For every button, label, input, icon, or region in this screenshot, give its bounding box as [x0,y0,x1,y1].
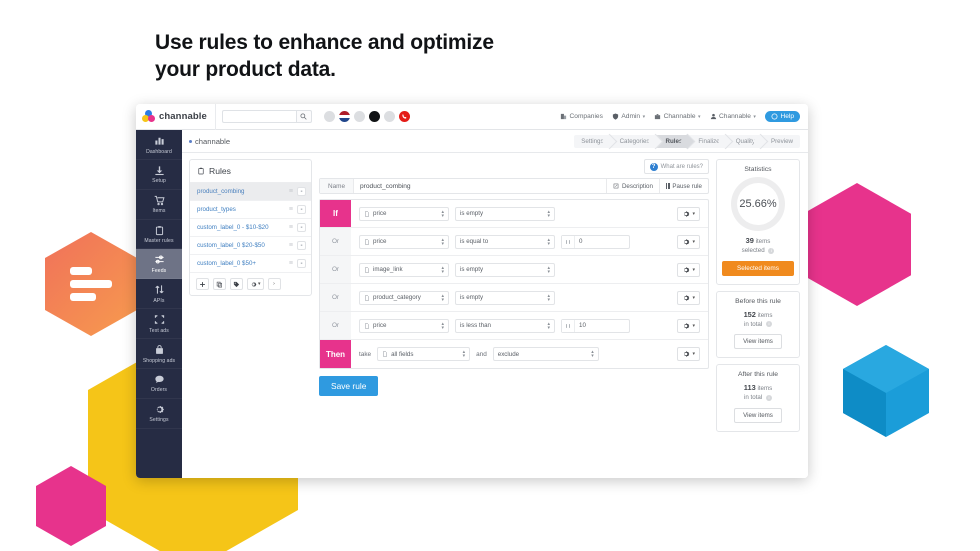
drag-handle-icon[interactable]: ≡ [289,242,293,249]
briefcase-icon [654,113,661,120]
expand-icon [138,314,180,326]
save-rule-button[interactable]: Save rule [319,376,378,396]
row-settings-button[interactable]: ▾ [677,235,700,249]
selected-count: 39 [746,236,754,245]
file-icon [364,267,370,273]
after-unit: items [757,385,772,392]
question-icon: ? [650,163,658,171]
menu-item-companies[interactable]: Companies [560,113,603,120]
sidebar-item-settings[interactable]: Settings [136,399,182,429]
condition-keyword: Or [320,228,351,255]
duplicate-rule-button[interactable] [213,278,226,290]
condition-fields: price ▴▾ is less than ▴▾ [351,312,708,339]
description-icon [613,183,619,189]
rule-editor: ? What are rules? Name product_combing D… [319,159,709,478]
sidebar-item-shopping-ads[interactable]: Shopping ads [136,339,182,369]
search-group [222,110,312,123]
operator-value: is empty [460,294,483,301]
sidebar-item-label: APIs [138,298,180,304]
brand-logo[interactable]: channable [142,110,215,123]
rule-list-item[interactable]: custom_label_0 - $10-$20 ≡ ▪ [190,219,311,237]
cart-icon [138,195,180,207]
condition-field-select[interactable]: price ▴▾ [359,207,449,221]
spinner-icon: ▴▾ [547,294,550,302]
rule-name-label: Name [320,179,354,193]
statistics-card: Statistics 25.66% 39 items selected i Se… [716,159,800,285]
condition-keyword: Or [320,284,351,311]
sidebar-item-apis[interactable]: APIs [136,279,182,309]
hexagon-glyph [70,267,112,301]
spinner-icon: ▴▾ [547,210,550,218]
sidebar-item-label: Feeds [138,268,180,274]
and-label: and [476,351,487,358]
brand-name: channable [159,111,207,122]
file-icon [364,323,370,329]
condition-fields: product_category ▴▾ is empty ▴▾ [351,284,708,311]
clipboard-icon [197,167,205,175]
topbar-menu: Companies Admin ▾ Channable ▾ Channable … [560,111,802,122]
chevron-down-icon: ▾ [692,295,695,301]
row-settings-button[interactable]: ▾ [677,263,700,277]
gear-icon [682,322,690,330]
menu-item-admin[interactable]: Admin ▾ [612,113,645,120]
condition-value-input[interactable]: 10 [575,320,629,332]
chevron-down-icon: ▾ [692,351,695,357]
sidebar-item-label: Text ads [138,328,180,334]
info-icon[interactable]: i [768,248,774,254]
pause-rule-button[interactable]: Pause rule [659,179,708,193]
condition-field-select[interactable]: product_category ▴▾ [359,291,449,305]
operator-value: is empty [460,210,483,217]
rules-toolbar: ▾ › [190,273,311,295]
rule-conditions: If price ▴▾ is empty ▴▾ [319,199,709,369]
headline-line-2: your product data. [155,58,336,81]
phone-status-icon [399,111,410,122]
condition-operator-select[interactable]: is empty ▴▾ [455,207,555,221]
rules-settings-button[interactable]: ▾ [247,278,264,290]
info-icon[interactable]: i [766,395,772,401]
chevron-down-icon: ▾ [692,239,695,245]
then-action-select[interactable]: exclude ▴▾ [493,347,599,361]
field-value: price [373,322,386,329]
sidebar-item-dashboard[interactable]: Dashboard [136,130,182,160]
sidebar-item-label: Settings [138,417,180,423]
chevron-down-icon: ▾ [692,267,695,273]
rule-name[interactable]: product_types [197,206,285,213]
spinner-icon: ▴▾ [547,238,550,246]
before-suffix: in total [744,321,762,328]
search-icon[interactable] [296,110,312,123]
statistics-selected-line: 39 items selected i [722,235,794,256]
rule-menu-icon[interactable]: ▪ [297,187,306,196]
selected-items-button[interactable]: Selected items [722,261,794,276]
menu-label: Admin [621,113,640,120]
gear-icon [682,294,690,302]
add-rule-button[interactable] [196,278,209,290]
condition-field-select[interactable]: price ▴▾ [359,235,449,249]
menu-item-channable-company[interactable]: Channable ▾ [654,113,700,120]
sidebar-item-orders[interactable]: Orders [136,369,182,399]
help-button[interactable]: Help [765,111,800,122]
spinner-icon: ▴▾ [441,238,444,246]
after-suffix: in total [744,394,762,401]
status-dot-1 [324,111,335,122]
decorative-pink-hexagon-right [803,183,911,306]
condition-value-group: 0 [561,235,630,249]
sliders-icon [138,254,180,266]
condition-row: If price ▴▾ is empty ▴▾ [320,200,708,228]
main-panel: Rules product_combing ≡ ▪ product_types … [182,153,808,478]
copy-icon [216,281,223,288]
spinner-icon: ▴▾ [591,350,594,358]
row-action: ▾ [677,347,700,361]
description-label: Description [622,183,653,190]
user-icon [710,113,717,120]
rule-list-item[interactable]: product_types ≡ ▪ [190,201,311,219]
condition-value-input[interactable]: 0 [575,236,629,248]
drag-handle-icon[interactable]: ≡ [289,260,293,267]
breadcrumb-label: channable [195,137,230,146]
operator-value: is less than [460,322,491,329]
row-action: ▾ [677,207,700,221]
condition-keyword: Or [320,312,351,339]
before-unit: items [758,312,773,319]
pause-label: Pause rule [672,183,702,190]
condition-field-select[interactable]: price ▴▾ [359,319,449,333]
take-label: take [359,351,371,358]
decorative-orange-hexagon [45,232,137,336]
gear-icon [138,404,180,416]
chevron-down-icon: ▾ [643,114,646,120]
description-button[interactable]: Description [606,179,658,193]
arrows-updown-icon [138,284,180,296]
row-action: ▾ [677,319,700,333]
then-fields: take all fields ▴▾ and exclude ▴▾ [351,340,708,368]
condition-operator-select[interactable]: is equal to ▴▾ [455,235,555,249]
condition-field-select[interactable]: image_link ▴▾ [359,263,449,277]
condition-fields: price ▴▾ is equal to ▴▾ [351,228,708,255]
rule-list-item[interactable]: custom_label_0 $20-$50 ≡ ▪ [190,237,311,255]
bag-icon [138,344,180,356]
field-value: price [373,210,386,217]
file-icon [382,351,388,357]
after-view-items-button[interactable]: View items [734,408,782,423]
then-field-select[interactable]: all fields ▴▾ [377,347,470,361]
gear-icon [250,281,257,288]
take-value: all fields [391,351,413,358]
action-value: exclude [498,351,519,358]
lifebuoy-icon [771,113,778,120]
flag-nl-icon [339,111,350,122]
field-value: price [373,238,386,245]
operator-value: is empty [460,266,483,273]
sidebar-item-items[interactable]: Items [136,190,182,220]
before-count-line: 152 items in total i [722,309,794,330]
building-icon [560,113,567,120]
drag-handle-icon[interactable]: ≡ [289,188,293,195]
spinner-icon: ▴▾ [547,266,550,274]
condition-row: Or price ▴▾ is less than ▴▾ [320,312,708,340]
status-dot-2 [354,111,365,122]
sidebar-item-label: Dashboard [138,149,180,155]
field-value: product_category [373,294,421,301]
chevron-down-icon: ▾ [753,114,756,120]
sidebar-item-setup[interactable]: Setup [136,160,182,190]
info-icon[interactable]: i [766,321,772,327]
drag-handle-icon[interactable]: ≡ [289,224,293,231]
file-icon [364,239,370,245]
headline-line-1: Use rules to enhance and optimize [155,31,494,54]
plus-icon [199,281,206,288]
content-area: channable Settings Categories Rules Fina… [182,130,808,478]
menu-label: Channable [719,113,751,120]
rule-name-input[interactable]: product_combing [354,179,606,193]
what-are-rules-label: What are rules? [661,164,703,170]
sidebar-item-master-rules[interactable]: Master rules [136,220,182,250]
rule-menu-icon[interactable]: ▪ [297,259,306,268]
value-type-icon [562,320,575,332]
condition-value-group: 10 [561,319,630,333]
rules-panel-title: Rules [209,166,231,176]
page-title: Use rules to enhance and optimize your p… [155,30,494,84]
then-row: Then take all fields ▴▾ and e [320,340,708,368]
then-keyword: Then [320,340,351,368]
sidebar-item-label: Orders [138,387,180,393]
statistics-title: Statistics [722,166,794,173]
step-tabs: Settings Categories Rules Finalize Quali… [574,135,800,148]
spinner-icon: ▴▾ [547,322,550,330]
what-are-rules-link[interactable]: ? What are rules? [644,159,709,174]
status-dot-4 [384,111,395,122]
status-dot-3 [369,111,380,122]
sidebar-item-label: Items [138,208,180,214]
gear-icon [682,210,690,218]
breadcrumb[interactable]: channable [189,137,230,146]
tab-settings[interactable]: Settings [574,135,610,148]
menu-item-user[interactable]: Channable ▾ [710,113,756,120]
statistics-column: Statistics 25.66% 39 items selected i Se… [716,159,800,478]
after-count-line: 113 items in total i [722,382,794,403]
gear-icon [682,266,690,274]
row-action: ▾ [677,263,700,277]
selected-suffix: selected [742,247,765,254]
rule-name-row: Name product_combing Description Pause r… [319,178,709,194]
file-icon [364,295,370,301]
drag-handle-icon[interactable]: ≡ [289,206,293,213]
before-title: Before this rule [722,298,794,305]
rule-menu-icon[interactable]: ▪ [297,223,306,232]
tag-icon [233,281,240,288]
condition-operator-select[interactable]: is empty ▴▾ [455,263,555,277]
shield-icon [612,113,619,120]
rule-list-item[interactable]: custom_label_0 $50+ ≡ ▪ [190,255,311,273]
channable-logo-icon [142,110,155,123]
condition-keyword: If [320,200,351,227]
menu-label: Channable [664,113,696,120]
chevron-down-icon: ▾ [258,281,261,287]
tag-rule-button[interactable] [230,278,243,290]
chevron-down-icon: ▾ [692,323,695,329]
condition-fields: image_link ▴▾ is empty ▴▾ [351,256,708,283]
field-value: image_link [373,266,403,273]
after-count: 113 [744,383,756,392]
status-dots [324,111,410,122]
rules-list-panel: Rules product_combing ≡ ▪ product_types … [189,159,312,296]
sidebar-item-label: Master rules [138,238,180,244]
rule-name[interactable]: custom_label_0 $20-$50 [197,242,285,249]
bar-chart-icon [138,135,180,147]
rule-name[interactable]: custom_label_0 $50+ [197,260,285,267]
status-dot-icon [189,140,192,143]
sidebar: Dashboard Setup Items Master rules Feeds… [136,130,182,478]
chat-icon [138,374,180,386]
value-type-icon [562,236,575,248]
condition-operator-select[interactable]: is less than ▴▾ [455,319,555,333]
clipboard-icon [138,225,180,237]
row-settings-button[interactable]: ▾ [677,207,700,221]
sidebar-item-label: Setup [138,178,180,184]
rule-menu-icon[interactable]: ▪ [297,205,306,214]
statistics-donut: 25.66% [731,177,785,231]
chevron-down-icon: ▾ [698,114,701,120]
condition-keyword: Or [320,256,351,283]
before-rule-card: Before this rule 152 items in total i Vi… [716,291,800,359]
condition-fields: price ▴▾ is empty ▴▾ [351,200,708,227]
selected-unit: items [756,238,771,245]
file-icon [364,211,370,217]
rules-panel-header: Rules [190,160,311,183]
after-rule-card: After this rule 113 items in total i Vie… [716,364,800,432]
help-label: Help [780,113,794,120]
spinner-icon: ▴▾ [441,266,444,274]
row-settings-button[interactable]: ▾ [677,319,700,333]
row-action: ▾ [677,291,700,305]
row-settings-button[interactable]: ▾ [677,291,700,305]
condition-row: Or price ▴▾ is equal to ▴▾ [320,228,708,256]
top-bar: channable Companies [136,104,808,130]
statistics-percentage: 25.66% [739,198,776,210]
condition-row: Or product_category ▴▾ is empty ▴▾ [320,284,708,312]
rule-name[interactable]: custom_label_0 - $10-$20 [197,224,285,231]
operator-value: is equal to [460,238,488,245]
search-input[interactable] [222,110,296,123]
spinner-icon: ▴▾ [441,322,444,330]
chevron-down-icon: ▾ [692,211,695,217]
app-window: channable Companies [136,104,808,478]
window-body: Dashboard Setup Items Master rules Feeds… [136,130,808,478]
divider [215,104,216,130]
after-title: After this rule [722,371,794,378]
sidebar-item-feeds[interactable]: Feeds [136,249,182,279]
download-icon [138,165,180,177]
breadcrumb-bar: channable Settings Categories Rules Fina… [182,130,808,153]
rule-name[interactable]: product_combing [197,188,285,195]
spinner-icon: ▴▾ [441,294,444,302]
condition-row: Or image_link ▴▾ is empty ▴▾ [320,256,708,284]
spinner-icon: ▴▾ [441,210,444,218]
decorative-blue-cube [843,345,929,437]
before-count: 152 [744,310,756,319]
before-view-items-button[interactable]: View items [734,334,782,349]
row-settings-button[interactable]: ▾ [677,347,700,361]
spinner-icon: ▴▾ [463,350,466,358]
rules-next-button[interactable]: › [268,278,281,290]
menu-label: Companies [570,113,603,120]
row-action: ▾ [677,235,700,249]
sidebar-item-label: Shopping ads [138,358,180,364]
gear-icon [682,350,690,358]
editor-top: ? What are rules? [319,159,709,174]
pause-icon [666,183,670,189]
condition-operator-select[interactable]: is empty ▴▾ [455,291,555,305]
gear-icon [682,238,690,246]
rule-menu-icon[interactable]: ▪ [297,241,306,250]
rule-list-item[interactable]: product_combing ≡ ▪ [190,183,311,201]
chevron-right-icon: › [273,281,275,287]
sidebar-item-text-ads[interactable]: Text ads [136,309,182,339]
